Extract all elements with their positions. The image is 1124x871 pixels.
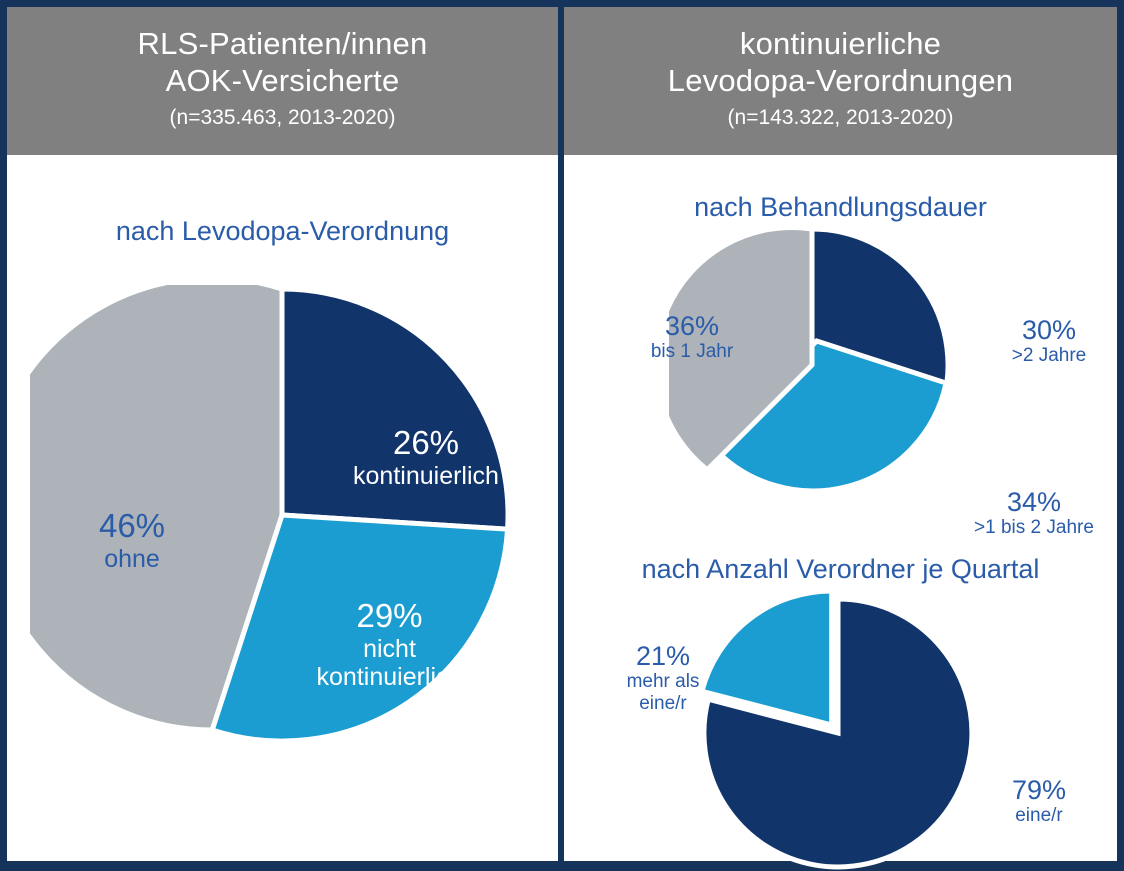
infographic-root: RLS-Patienten/innen AOK-Versicherte (n=3… (0, 0, 1124, 868)
pie-label-nicht-kontinuierlich-cap-line1: nicht (262, 635, 517, 663)
pie-label-mehr-als-eine-r-cap-line1: mehr als (588, 671, 738, 692)
panel-right-body: nach Behandlungsdauer 30% >2 Jahre (564, 155, 1117, 861)
pie-label-mehr-als-eine-r-cap-line2: eine/r (588, 693, 738, 714)
pie-label-ueber-2-jahre-pct: 30% (974, 315, 1124, 345)
pie-chart-levodopa-verordnung: 26% kontinuierlich 29% nicht kontinuierl… (30, 285, 535, 830)
panel-left-header-line1: RLS-Patienten/innen (138, 25, 428, 62)
pie-label-bis-1-jahr-pct: 36% (612, 311, 772, 341)
pie-label-eine-r-cap: eine/r (964, 805, 1114, 826)
pie-label-mehr-als-eine-r: 21% mehr als eine/r (588, 641, 738, 714)
pie-label-ueber-2-jahre: 30% >2 Jahre (974, 315, 1124, 367)
pie-label-nicht-kontinuierlich: 29% nicht kontinuierlich (262, 598, 517, 691)
pie-label-nicht-kontinuierlich-cap-line2: kontinuierlich (262, 663, 517, 691)
pie-label-bis-1-jahr-cap: bis 1 Jahr (612, 341, 772, 362)
chart-title-behandlungsdauer: nach Behandlungsdauer (564, 191, 1117, 223)
chart-title-levodopa-verordnung: nach Levodopa-Verordnung (7, 215, 558, 247)
pie-label-kontinuierlich: 26% kontinuierlich (316, 425, 536, 490)
pie-label-ohne-cap: ohne (52, 545, 212, 573)
panel-right: kontinuierliche Levodopa-Verordnungen (n… (564, 7, 1117, 861)
pie-label-ueber-1-bis-2-jahre-pct: 34% (944, 487, 1124, 517)
pie-label-mehr-als-eine-r-pct: 21% (588, 641, 738, 671)
panel-left-body: nach Levodopa-Verordnung 26% kontinuierl… (7, 155, 558, 861)
pie-label-nicht-kontinuierlich-pct: 29% (262, 598, 517, 635)
panel-left: RLS-Patienten/innen AOK-Versicherte (n=3… (7, 7, 558, 861)
panel-left-header-line2: AOK-Versicherte (166, 62, 400, 99)
pie-svg-anzahl-verordner (700, 593, 990, 871)
panel-divider (558, 7, 564, 861)
pie-chart-anzahl-verordner: 21% mehr als eine/r 79% eine/r (564, 593, 1124, 871)
panel-right-header-line2: Levodopa-Verordnungen (668, 62, 1014, 99)
pie-slice-kontinuierlich (282, 289, 508, 529)
panel-left-header-sub: (n=335.463, 2013-2020) (170, 103, 396, 133)
pie-label-ueber-2-jahre-cap: >2 Jahre (974, 345, 1124, 366)
panel-right-header-line1: kontinuierliche (740, 25, 941, 62)
pie-svg-behandlungsdauer (669, 225, 969, 515)
panel-left-header: RLS-Patienten/innen AOK-Versicherte (n=3… (7, 7, 558, 155)
pie-label-eine-r: 79% eine/r (964, 775, 1114, 827)
pie-label-ohne-pct: 46% (52, 508, 212, 545)
pie-label-eine-r-pct: 79% (964, 775, 1114, 805)
pie-chart-behandlungsdauer: 30% >2 Jahre 34% >1 bis 2 Jahre 36% bis … (564, 225, 1124, 505)
chart-title-anzahl-verordner: nach Anzahl Verordner je Quartal (564, 553, 1117, 585)
panel-right-header-sub: (n=143.322, 2013-2020) (728, 103, 954, 133)
pie-label-ueber-1-bis-2-jahre-cap: >1 bis 2 Jahre (944, 517, 1124, 538)
pie-label-kontinuierlich-cap: kontinuierlich (316, 462, 536, 490)
panel-right-header: kontinuierliche Levodopa-Verordnungen (n… (564, 7, 1117, 155)
pie-label-bis-1-jahr: 36% bis 1 Jahr (612, 311, 772, 363)
pie-label-kontinuierlich-pct: 26% (316, 425, 536, 462)
pie-label-ohne: 46% ohne (52, 508, 212, 573)
pie-label-ueber-1-bis-2-jahre: 34% >1 bis 2 Jahre (944, 487, 1124, 539)
